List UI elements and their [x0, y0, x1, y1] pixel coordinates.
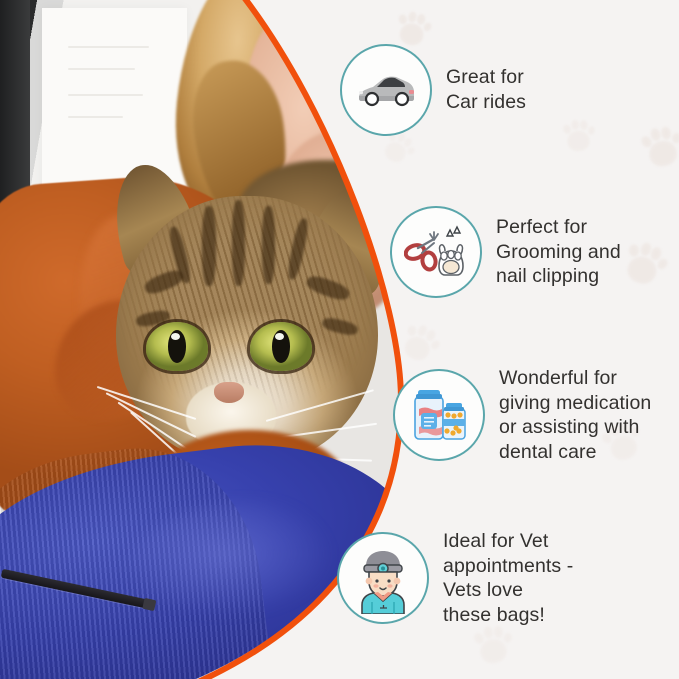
feature-list: Great for Car rides [325, 0, 679, 679]
feature-item-grooming[interactable]: Perfect for Grooming and nail clipping [390, 206, 621, 298]
feature-item-medication[interactable]: Wonderful for giving medication or assis… [393, 366, 651, 464]
car-icon [340, 44, 432, 136]
nail-clipper-paw-icon [390, 206, 482, 298]
feature-label: Ideal for Vet appointments - Vets love t… [443, 529, 573, 627]
photo-cat-nose [214, 382, 244, 403]
pill-bottles-icon [393, 369, 485, 461]
feature-item-vet[interactable]: Ideal for Vet appointments - Vets love t… [337, 529, 573, 627]
feature-item-car-rides[interactable]: Great for Car rides [340, 44, 526, 136]
feature-label: Wonderful for giving medication or assis… [499, 366, 651, 464]
photo-cat-eye-right [250, 322, 312, 371]
feature-label: Great for Car rides [446, 65, 526, 114]
photo-cat-eye-left [146, 322, 208, 371]
feature-label: Perfect for Grooming and nail clipping [496, 215, 621, 289]
product-feature-infographic: Great for Car rides [0, 0, 679, 679]
veterinarian-icon [337, 532, 429, 624]
